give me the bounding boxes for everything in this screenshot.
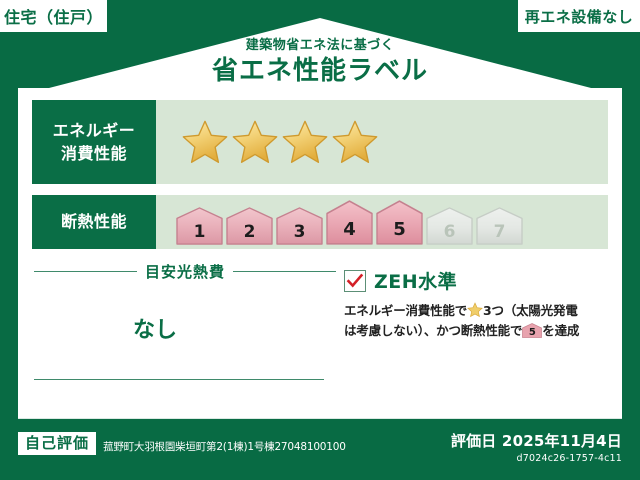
insulation-level-number: 6	[426, 224, 473, 241]
energy-cost-title: 目安光熱費	[145, 261, 225, 282]
insulation-level-number: 7	[476, 224, 523, 241]
insulation-level-6: 6	[426, 207, 473, 245]
star-icon	[332, 119, 378, 165]
label-card: エネルギー 消費性能 断熱性能 1234567 目安光熱費 なし	[18, 88, 622, 418]
zeh-header: ZEH水準	[344, 267, 608, 294]
star-icon	[232, 119, 278, 165]
insulation-level-1: 1	[176, 207, 223, 245]
insulation-level-2: 2	[226, 207, 273, 245]
footer: 自己評価 菰野町大羽根園柴垣町第2(1棟)1号棟27048100100 評価日 …	[0, 418, 640, 480]
zeh-desc-part3: は考慮しない）、かつ断熱性能で	[344, 323, 522, 338]
renewable-energy-badge: 再エネ設備なし	[518, 0, 640, 32]
zeh-title: ZEH水準	[374, 267, 457, 294]
building-type-badge: 住宅（住戸）	[0, 0, 107, 32]
zeh-desc-part1: エネルギー消費性能で	[344, 303, 467, 318]
insulation-level-scale: 1234567	[176, 200, 523, 245]
star-icon	[282, 119, 328, 165]
check-icon	[346, 272, 364, 290]
insulation-performance-label: 断熱性能	[32, 195, 156, 249]
zeh-desc-part4: を達成	[542, 323, 579, 338]
zeh-section: ZEH水準 エネルギー消費性能で 3つ（太陽光発電 は考慮しない）、かつ断熱性能…	[336, 259, 622, 411]
insulation-level-3: 3	[276, 207, 323, 245]
energy-performance-row: エネルギー 消費性能	[32, 100, 608, 184]
self-evaluation-group: 自己評価 菰野町大羽根園柴垣町第2(1棟)1号棟27048100100	[18, 432, 346, 455]
energy-cost-section: 目安光熱費 なし	[18, 259, 336, 411]
insulation-level-number: 1	[176, 224, 223, 241]
zeh-desc-part2: 3つ（太陽光発電	[483, 303, 578, 318]
lower-section: 目安光熱費 なし ZEH水準 エネルギー消費性能で 3	[18, 259, 622, 411]
energy-label-line1: エネルギー	[53, 119, 136, 142]
evaluation-meta: 評価日 2025年11月4日 d7024c26-1757-4c11	[451, 432, 622, 464]
star-icon	[182, 119, 228, 165]
insulation-level-number: 2	[226, 224, 273, 241]
zeh-checkbox[interactable]	[344, 270, 366, 292]
insulation-performance-body: 1234567	[156, 195, 608, 249]
star-rating	[182, 119, 378, 165]
insulation-level-number: 5	[376, 221, 423, 239]
insulation-level-number: 4	[326, 221, 373, 239]
self-evaluation-badge: 自己評価	[18, 432, 96, 455]
property-address: 菰野町大羽根園柴垣町第2(1棟)1号棟27048100100	[103, 433, 346, 454]
energy-cost-value: なし	[34, 312, 336, 344]
insulation-level-5: 5	[376, 200, 423, 245]
insulation-level-7: 7	[476, 207, 523, 245]
footer-content: 自己評価 菰野町大羽根園柴垣町第2(1棟)1号棟27048100100 評価日 …	[18, 432, 622, 464]
insulation-level-number: 3	[276, 224, 323, 241]
inline-star-icon	[467, 302, 483, 318]
evaluation-id: d7024c26-1757-4c11	[451, 453, 622, 464]
energy-label-line2: 消費性能	[61, 142, 127, 165]
page-title: 省エネ性能ラベル	[0, 55, 640, 88]
inline-house-badge: 5	[522, 323, 542, 338]
title-subtitle: 建築物省エネ法に基づく	[0, 38, 640, 54]
energy-performance-label: エネルギー 消費性能	[32, 100, 156, 184]
footer-divider	[18, 418, 622, 419]
insulation-label-text: 断熱性能	[61, 210, 127, 233]
insulation-level-4: 4	[326, 200, 373, 245]
zeh-description: エネルギー消費性能で 3つ（太陽光発電 は考慮しない）、かつ断熱性能で 5 を達…	[344, 301, 608, 342]
cost-bottom-divider	[34, 379, 324, 380]
cost-rule-left	[34, 271, 137, 272]
cost-rule-right	[233, 271, 336, 272]
energy-performance-body	[156, 100, 608, 184]
label-title-block: 建築物省エネ法に基づく 省エネ性能ラベル	[0, 38, 640, 87]
inline-house-number: 5	[522, 328, 542, 338]
energy-cost-header: 目安光熱費	[34, 261, 336, 282]
evaluation-date: 評価日 2025年11月4日	[451, 432, 622, 450]
insulation-performance-row: 断熱性能 1234567	[32, 195, 608, 249]
